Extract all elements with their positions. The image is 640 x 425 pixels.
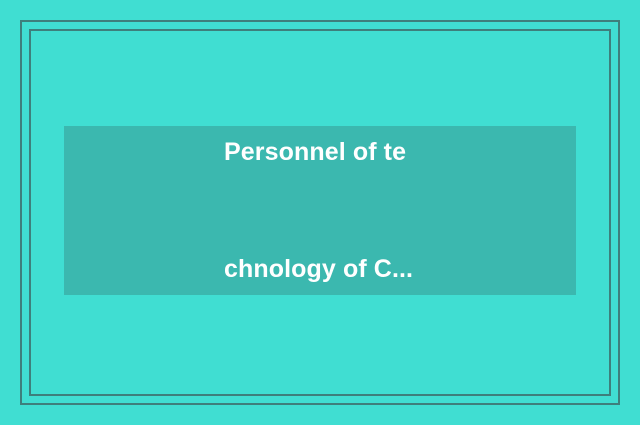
caption-line-1: Personnel of te [224,133,576,172]
caption-line-2: chnology of C... [224,250,576,289]
caption-band: Personnel of te chnology of C... [64,126,576,295]
caption-title: Personnel of te chnology of C... [64,55,576,367]
title-card: Personnel of te chnology of C... [0,0,640,425]
